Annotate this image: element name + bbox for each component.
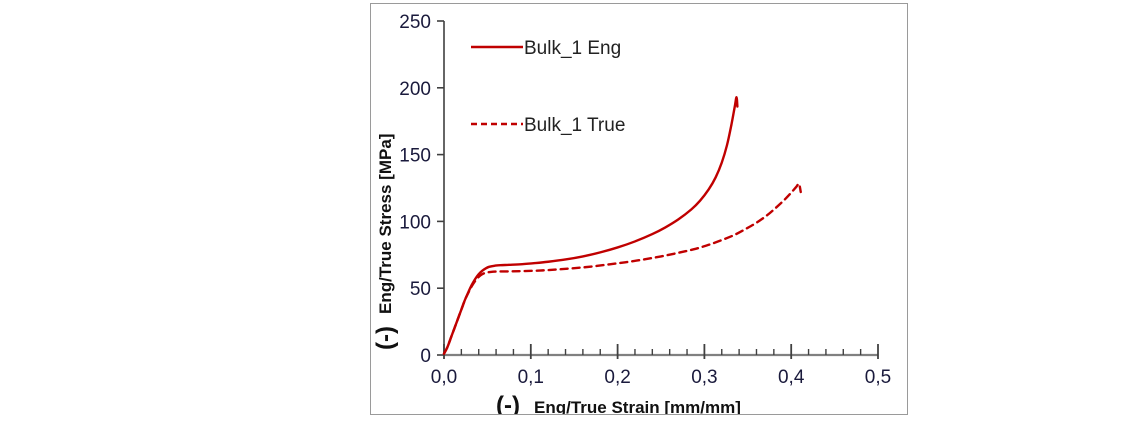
y-tick-label: 150	[399, 146, 431, 167]
x-axis-title: (-)Eng/True Strain [mm/mm]	[496, 392, 741, 414]
chart-container: 050100150200250 0,00,10,20,30,40,5 Bulk_…	[370, 3, 908, 415]
x-tick-label: 0,2	[604, 367, 630, 388]
screenshot-root: 050100150200250 0,00,10,20,30,40,5 Bulk_…	[0, 0, 1129, 421]
legend-label-2: Bulk_1 True	[524, 115, 625, 136]
y-tick-label: 100	[399, 212, 431, 233]
x-tick-label: 0,0	[431, 367, 457, 388]
x-axis-title-paren: (-)	[496, 392, 520, 414]
y-tick-label: 50	[410, 279, 431, 300]
x-axis-title-text: Eng/True Strain [mm/mm]	[534, 398, 741, 414]
x-tick-label: 0,1	[518, 367, 544, 388]
y-tick-label: 250	[399, 12, 431, 33]
series-line-2	[444, 184, 801, 354]
x-axis-major-ticks	[444, 344, 878, 359]
x-axis-tick-labels: 0,00,10,20,30,40,5	[431, 367, 891, 388]
legend-label-1: Bulk_1 Eng	[524, 38, 621, 59]
y-axis-title-text: Eng/True Stress [MPa]	[376, 134, 395, 314]
y-axis-title-paren: (-)	[372, 326, 399, 350]
x-tick-label: 0,5	[865, 367, 891, 388]
stress-strain-chart: 050100150200250 0,00,10,20,30,40,5 Bulk_…	[371, 4, 907, 414]
y-axis-ticks	[437, 21, 444, 355]
y-tick-label: 200	[399, 79, 431, 100]
chart-legend: Bulk_1 EngBulk_1 True	[471, 38, 625, 136]
y-tick-label: 0	[420, 346, 431, 367]
y-axis-tick-labels: 050100150200250	[399, 12, 431, 367]
x-tick-label: 0,3	[691, 367, 717, 388]
y-axis-title: (-) Eng/True Stress [MPa]	[372, 134, 399, 350]
x-tick-label: 0,4	[778, 367, 805, 388]
